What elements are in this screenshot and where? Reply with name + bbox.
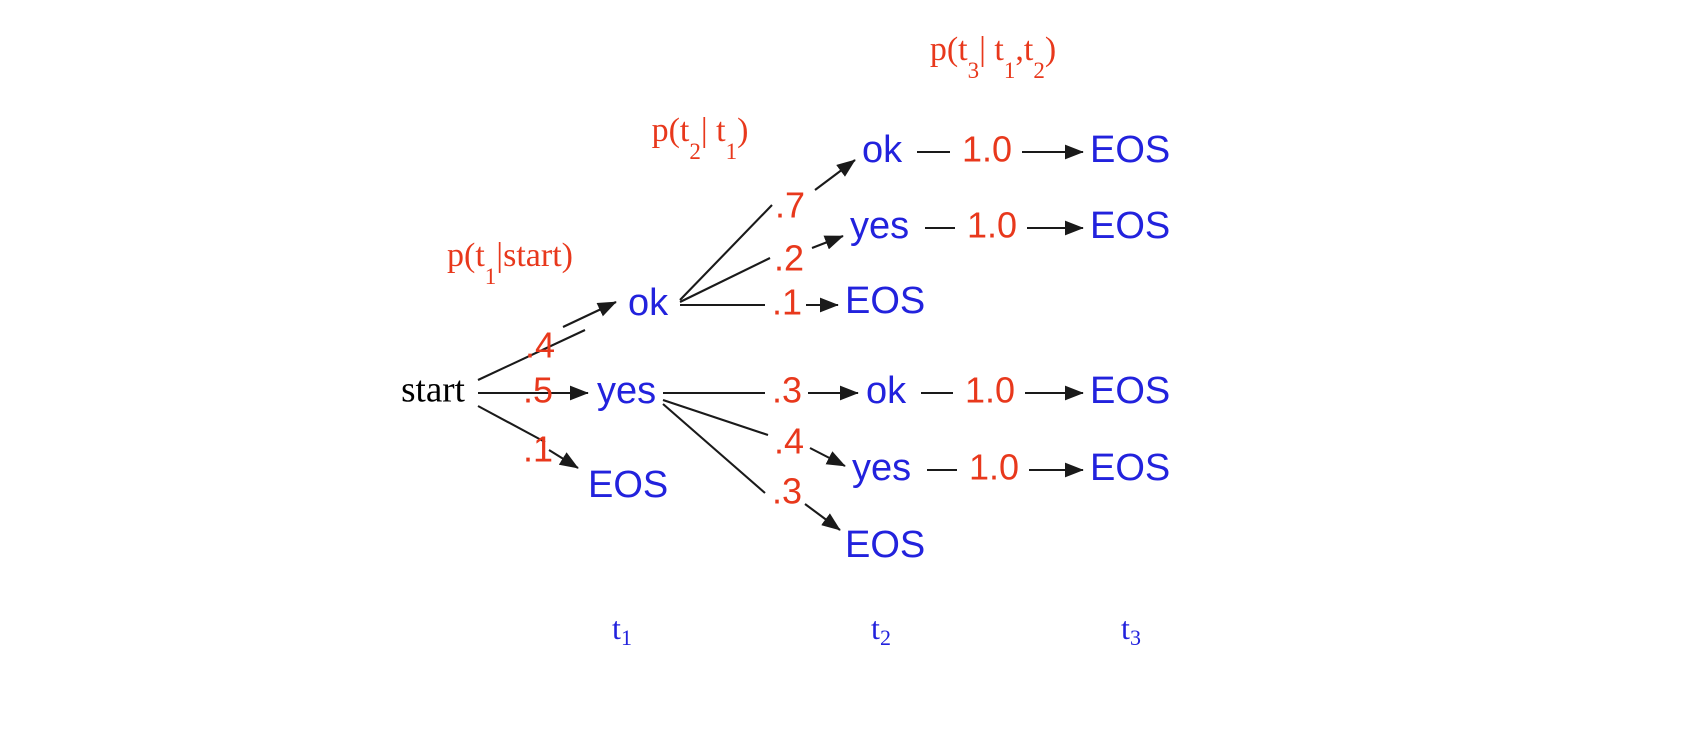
tree-node-token: yes (852, 447, 911, 489)
edge-probability-label: 1.0 (969, 447, 1019, 488)
axis-label-subscript: 2 (880, 625, 891, 650)
header-subscript: 1 (1004, 58, 1016, 83)
edge-probability-label: .2 (774, 238, 804, 279)
axis-label-base: t (612, 610, 621, 646)
tree-node-token: EOS (588, 464, 668, 506)
header-base: p(t (447, 237, 485, 274)
header-base: |start) (496, 237, 573, 274)
edge-segment-arrow (549, 450, 578, 468)
tree-svg-canvas: .4.5.1.7.2.1.3.4.31.01.01.01.0 startokye… (0, 0, 1706, 744)
tree-node-token: yes (850, 205, 909, 247)
tree-node-token: EOS (1090, 447, 1170, 489)
edge-probability-label: .3 (772, 471, 802, 512)
axis-label-subscript: 1 (621, 625, 632, 650)
header-base: | t (979, 31, 1004, 68)
axis-labels-group: t1t2t3 (612, 610, 1141, 650)
tree-node-token: EOS (1090, 370, 1170, 412)
column-header-header-t1: p(t1|start) (447, 237, 573, 289)
header-base: p(t (652, 112, 690, 149)
header-subscript: 2 (689, 139, 701, 164)
edge-probability-labels-group: .4.5.1.7.2.1.3.4.31.01.01.01.0 (523, 129, 1019, 512)
tree-node-start: start (401, 369, 465, 410)
edge-segment-arrow (805, 504, 840, 530)
header-subscript: 3 (968, 58, 980, 83)
edge-probability-label: .1 (523, 429, 553, 470)
header-base: p(t (930, 31, 968, 68)
edge-segment-arrow (812, 236, 843, 248)
header-base: ) (1045, 31, 1056, 68)
tree-edge (663, 404, 840, 530)
tree-node-token: ok (866, 370, 907, 412)
probability-tree-diagram: .4.5.1.7.2.1.3.4.31.01.01.01.0 startokye… (0, 0, 1706, 744)
header-subscript: 1 (726, 139, 738, 164)
tree-node-token: yes (597, 370, 656, 412)
tree-edge (663, 400, 845, 466)
edge-segment-before-label (680, 205, 772, 300)
tree-node-token: EOS (1090, 205, 1170, 247)
edge-probability-label: 1.0 (962, 129, 1012, 170)
tree-node-token: ok (862, 129, 903, 171)
edge-probability-label: .4 (525, 325, 555, 366)
tree-node-token: EOS (845, 524, 925, 566)
axis-label-subscript: 3 (1130, 625, 1141, 650)
tree-edge (680, 160, 855, 300)
edge-probability-label: .1 (772, 282, 802, 323)
edge-probability-label: .5 (523, 370, 553, 411)
edge-segment-arrow (810, 448, 845, 466)
edge-probability-label: .3 (772, 370, 802, 411)
header-subscript: 1 (485, 264, 497, 289)
edge-segment-arrow (563, 302, 616, 327)
column-header-header-t2: p(t2| t1) (652, 112, 749, 164)
axis-label-base: t (1121, 610, 1130, 646)
tree-edge (680, 236, 843, 302)
header-base: ,t (1015, 31, 1034, 68)
edge-segment-before-label (680, 258, 770, 302)
tree-node-token: EOS (1090, 129, 1170, 171)
edge-probability-label: 1.0 (965, 370, 1015, 411)
axis-label-base: t (871, 610, 880, 646)
edge-probability-label: 1.0 (967, 205, 1017, 246)
header-subscript: 2 (1033, 58, 1045, 83)
column-header-header-t3: p(t3| t1,t2) (930, 31, 1056, 83)
edge-probability-label: .4 (774, 421, 804, 462)
edge-segment-arrow (815, 160, 855, 190)
tree-node-token: EOS (845, 280, 925, 322)
axis-label-axis-t3: t3 (1121, 610, 1141, 650)
axis-label-axis-t2: t2 (871, 610, 891, 650)
tree-node-token: ok (628, 282, 669, 324)
header-base: | t (701, 112, 726, 149)
axis-label-axis-t1: t1 (612, 610, 632, 650)
header-base: ) (737, 112, 748, 149)
edge-probability-label: .7 (775, 185, 805, 226)
